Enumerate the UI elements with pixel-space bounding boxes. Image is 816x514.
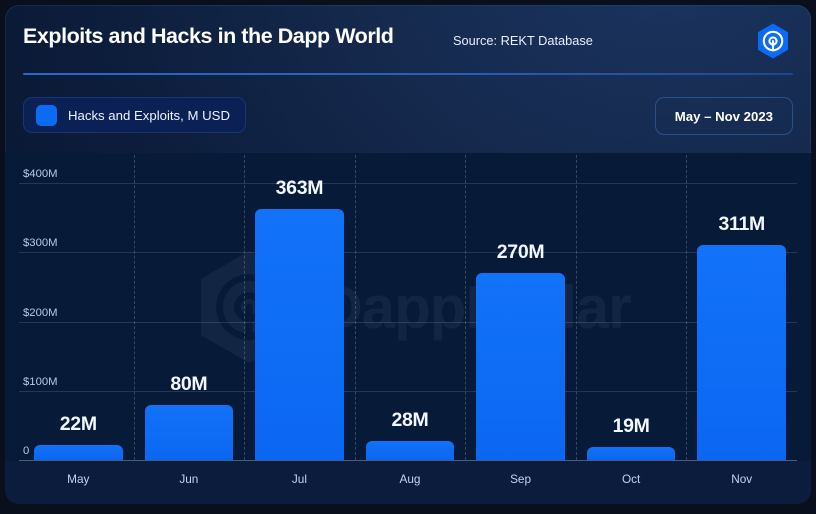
- x-axis-tick-label: May: [23, 472, 134, 486]
- vertical-gridline: [134, 155, 135, 460]
- bar-value-label: 19M: [576, 415, 687, 438]
- x-axis-tick-label: Sep: [465, 472, 576, 486]
- x-axis-tick-label: Jul: [244, 472, 355, 486]
- bar-value-label: 270M: [465, 241, 576, 264]
- x-axis-tick-label: Nov: [686, 472, 797, 486]
- date-range-button[interactable]: May – Nov 2023: [655, 97, 793, 135]
- dappradar-hexagon-logo-icon: [753, 21, 793, 61]
- legend-label: Hacks and Exploits, M USD: [68, 108, 230, 123]
- y-axis-tick-label: 0: [23, 445, 29, 457]
- legend-color-swatch: [36, 105, 57, 126]
- bar-nov[interactable]: [697, 245, 785, 460]
- bar-value-label: 28M: [355, 409, 466, 432]
- bar-value-label: 22M: [23, 413, 134, 436]
- bar-jul[interactable]: [255, 209, 343, 460]
- card-header: Exploits and Hacks in the Dapp World Sou…: [5, 5, 811, 69]
- bar-jun[interactable]: [145, 405, 233, 460]
- bar-value-label: 80M: [134, 373, 245, 396]
- header-divider: [23, 73, 793, 75]
- chart-card: Exploits and Hacks in the Dapp World Sou…: [5, 5, 811, 504]
- bar-sep[interactable]: [476, 273, 564, 460]
- x-axis-tick-label: Oct: [576, 472, 687, 486]
- gridline: [19, 183, 797, 184]
- gridline: [19, 322, 797, 323]
- y-axis-tick-label: $300M: [23, 237, 58, 249]
- plot-area: DappRadar 0$100M$200M$300M$400M 22M80M36…: [5, 153, 811, 461]
- vertical-gridline: [244, 155, 245, 460]
- y-axis-tick-label: $100M: [23, 376, 58, 388]
- source-label: Source: REKT Database: [453, 33, 593, 48]
- date-range-label: May – Nov 2023: [675, 109, 773, 124]
- bar-oct[interactable]: [587, 447, 675, 460]
- gridline: [19, 252, 797, 253]
- vertical-gridline: [686, 155, 687, 460]
- y-axis-tick-label: $400M: [23, 168, 58, 180]
- legend-chip[interactable]: Hacks and Exploits, M USD: [23, 97, 246, 133]
- x-axis-tick-label: Aug: [355, 472, 466, 486]
- bar-value-label: 311M: [686, 213, 797, 236]
- page-title: Exploits and Hacks in the Dapp World: [23, 24, 393, 49]
- y-axis-tick-label: $200M: [23, 307, 58, 319]
- x-axis-labels: MayJunJulAugSepOctNov: [5, 461, 811, 504]
- bar-may[interactable]: [34, 445, 122, 460]
- vertical-gridline: [465, 155, 466, 460]
- bar-aug[interactable]: [366, 441, 454, 460]
- x-axis-tick-label: Jun: [134, 472, 245, 486]
- bar-value-label: 363M: [244, 177, 355, 200]
